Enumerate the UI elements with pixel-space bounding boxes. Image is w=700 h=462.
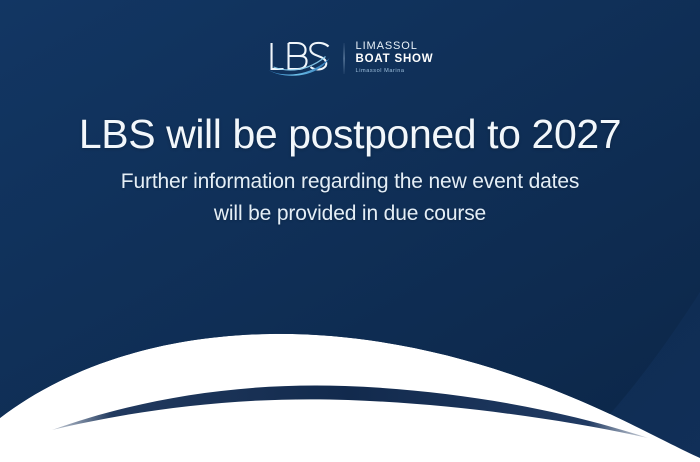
logo-divider	[344, 43, 345, 74]
logo-marina-text: Limassol Marina	[356, 69, 434, 75]
logo-boatshow-text: BOAT SHOW	[356, 54, 434, 66]
lbs-monogram-with-wave-icon	[267, 38, 333, 78]
subline-text-2: will be provided in due course	[0, 198, 700, 231]
logo-limassol-text: LIMASSOL	[356, 41, 434, 52]
logo-lockup[interactable]: LIMASSOL BOAT SHOW Limassol Marina	[267, 38, 434, 78]
announcement-banner: LIMASSOL BOAT SHOW Limassol Marina LBS w…	[0, 0, 700, 462]
subline-text-1: Further information regarding the new ev…	[0, 166, 700, 199]
announcement-message: LBS will be postponed to 2027 Further in…	[0, 112, 700, 231]
logo-wordmark: LIMASSOL BOAT SHOW Limassol Marina	[356, 41, 434, 74]
headline-text: LBS will be postponed to 2027	[0, 112, 700, 158]
